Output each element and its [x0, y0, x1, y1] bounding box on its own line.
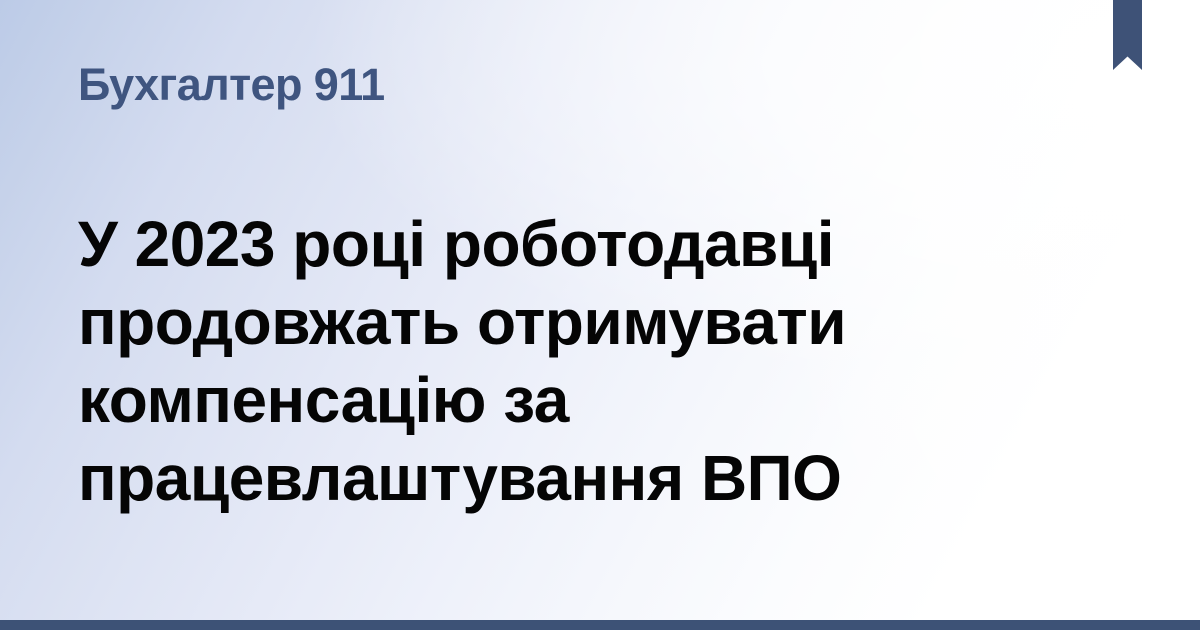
share-card: Бухгалтер 911 У 2023 році роботодавці пр…: [0, 0, 1200, 630]
bookmark-icon[interactable]: [1113, 0, 1142, 70]
brand-logo[interactable]: Бухгалтер 911: [78, 62, 385, 107]
page-title: У 2023 році роботодавці продовжать отрим…: [78, 205, 918, 517]
headline-line-3: компенсацію за: [78, 361, 918, 439]
headline-line-1: У 2023 році роботодавці: [78, 205, 918, 283]
headline-line-4: працевлаштування ВПО: [78, 439, 918, 517]
headline-line-2: продовжать отримувати: [78, 283, 918, 361]
bottom-accent-bar: [0, 620, 1200, 630]
